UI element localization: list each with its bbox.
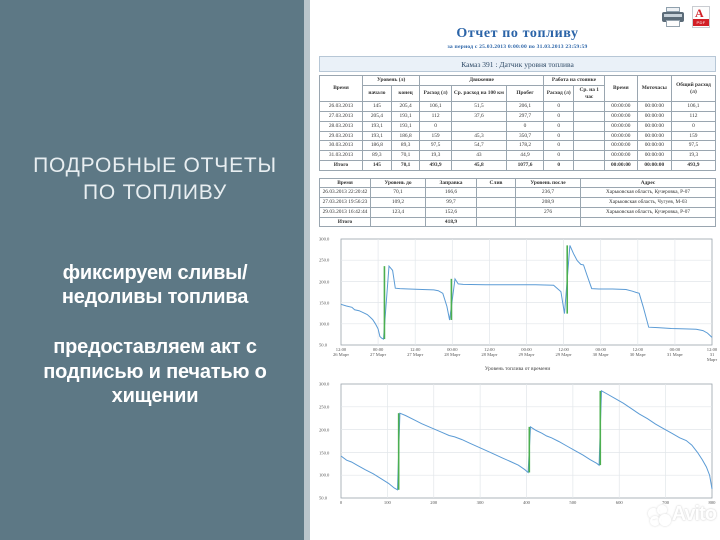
main-summary-table: Время Уровень (л) Движение Работа на сто… bbox=[319, 75, 716, 171]
table-row: 27.03.2013205,4193,111237,6297,7000:00:0… bbox=[320, 112, 716, 122]
table-cell bbox=[581, 217, 716, 227]
table-cell: 00:00:00 bbox=[637, 141, 671, 151]
y-axis-tick-label: 100.0 bbox=[319, 322, 329, 327]
table-total-row: Итого14570,1493,945,81077,6000:00:0000:0… bbox=[320, 160, 716, 170]
table-cell bbox=[574, 102, 605, 112]
table-cell: 0 bbox=[543, 151, 574, 161]
chart-1-caption: Уровень топлива от времени bbox=[319, 366, 716, 372]
table-cell: 54,7 bbox=[451, 141, 506, 151]
col-total-consumption: Общий расход (л) bbox=[671, 76, 715, 102]
table-cell: 193,1 bbox=[362, 131, 391, 141]
table-cell: 193,1 bbox=[391, 121, 420, 131]
fuel-events-table: Время Уровень до Заправка Слив Уровень п… bbox=[319, 178, 716, 228]
table-cell: 159 bbox=[671, 131, 715, 141]
table-cell: Харьковская область, Чугуев, М-03 bbox=[581, 198, 716, 208]
table-cell: 29.03.2013 bbox=[320, 131, 363, 141]
report-title: Отчет по топливу bbox=[315, 26, 720, 42]
table-cell bbox=[574, 160, 605, 170]
table-cell: 00:00:00 bbox=[604, 160, 637, 170]
y-axis-tick-label: 200.0 bbox=[319, 279, 329, 284]
group-level: Уровень (л) bbox=[362, 76, 419, 86]
table-cell: 0 bbox=[543, 131, 574, 141]
table-cell: 159 bbox=[420, 131, 451, 141]
table-cell: Итого bbox=[320, 217, 371, 227]
x-axis-tick-label: 00:0029 Март bbox=[518, 347, 534, 357]
left-marketing-panel: ПОДРОБНЫЕ ОТЧЕТЫ ПО ТОПЛИВУ фиксируем сл… bbox=[0, 0, 310, 540]
x-axis-tick-label: 400 bbox=[523, 500, 530, 505]
table-row: 26.03.2013145205,4106,151,5206,1000:00:0… bbox=[320, 102, 716, 112]
y-axis-tick-label: 150.0 bbox=[319, 300, 329, 305]
table-cell: 350,7 bbox=[507, 131, 544, 141]
col-ev-level-before: Уровень до bbox=[371, 178, 426, 188]
table-cell: 0 bbox=[543, 141, 574, 151]
x-axis-tick-label: 12:0029 Март bbox=[556, 347, 572, 357]
x-axis-tick-label: 12:0030 Март bbox=[630, 347, 646, 357]
table-cell: 89,3 bbox=[391, 141, 420, 151]
col-mileage: Пробег bbox=[507, 85, 544, 102]
table-cell: 31.03.2013 bbox=[320, 151, 363, 161]
table-cell bbox=[516, 217, 581, 227]
table-cell: 0 bbox=[507, 121, 544, 131]
subtext-2-line-2: подписью и печатью о bbox=[43, 360, 266, 384]
table-cell: 70,1 bbox=[371, 188, 426, 198]
pdf-label: PDF bbox=[693, 19, 709, 26]
table-cell: 00:00:00 bbox=[637, 131, 671, 141]
table-cell: 0 bbox=[543, 121, 574, 131]
chart-1-wrapper: 300.0250.0200.0150.0100.050.012:0026 Мар… bbox=[319, 235, 716, 372]
col-motohours: Моточасы bbox=[637, 76, 671, 102]
col-ev-time: Время bbox=[320, 178, 371, 188]
table-cell: 70,1 bbox=[391, 160, 420, 170]
table-cell: 51,5 bbox=[451, 102, 506, 112]
table-cell bbox=[574, 151, 605, 161]
col-avg-per-hour: Ср. на 1 час bbox=[574, 85, 605, 102]
x-axis-tick-label: 12:0028 Март bbox=[481, 347, 497, 357]
col-avg-per-100km: Ср. расход на 100 км bbox=[451, 85, 506, 102]
x-axis-tick-label: 500 bbox=[569, 500, 576, 505]
col-ev-address: Адрес bbox=[581, 178, 716, 188]
table-cell: 152,6 bbox=[426, 207, 477, 217]
subtext-1-line-1: фиксируем сливы/ bbox=[43, 261, 266, 285]
table-row: 28.03.2013193,1193,100000:00:0000:00:000 bbox=[320, 121, 716, 131]
col-ev-level-after: Уровень после bbox=[516, 178, 581, 188]
table-row: 29.03.2013 16:42:44123,4152,6276Харьковс… bbox=[320, 207, 716, 217]
table-cell: 70,1 bbox=[391, 151, 420, 161]
x-axis-tick-label: 12:0031 Март bbox=[707, 347, 717, 362]
table-cell: Харьковская область, Кучеровка, Р-07 bbox=[581, 207, 716, 217]
group-movement: Движение bbox=[420, 76, 544, 86]
table-cell: 97,5 bbox=[671, 141, 715, 151]
table-cell: 00:00:00 bbox=[604, 151, 637, 161]
subtext-block: фиксируем сливы/ недоливы топлива предос… bbox=[43, 261, 266, 409]
main-table-head: Время Уровень (л) Движение Работа на сто… bbox=[320, 76, 716, 102]
table-cell: 97,5 bbox=[420, 141, 451, 151]
table-cell: 123,4 bbox=[371, 207, 426, 217]
table-cell: 106,1 bbox=[671, 102, 715, 112]
pdf-export-icon[interactable]: A PDF bbox=[690, 6, 712, 28]
table-cell: 00:00:00 bbox=[637, 151, 671, 161]
table-cell: 166,6 bbox=[426, 188, 477, 198]
table-cell: 0 bbox=[671, 121, 715, 131]
x-axis-tick-label: 300 bbox=[477, 500, 484, 505]
table-cell bbox=[371, 217, 426, 227]
table-cell bbox=[574, 141, 605, 151]
table-row: 31.03.201389,370,119,34344,9000:00:0000:… bbox=[320, 151, 716, 161]
headline: ПОДРОБНЫЕ ОТЧЕТЫ ПО ТОПЛИВУ bbox=[33, 152, 277, 207]
x-axis-tick-label: 12:0027 Март bbox=[407, 347, 423, 357]
table-cell: 00:00:00 bbox=[637, 102, 671, 112]
table-cell: 0 bbox=[420, 121, 451, 131]
x-axis-tick-label: 100 bbox=[384, 500, 391, 505]
subtext-2-line-3: хищении bbox=[43, 384, 266, 408]
y-axis-tick-label: 300.0 bbox=[319, 237, 329, 242]
x-axis-tick-label: 00:0031 Март bbox=[667, 347, 683, 357]
table-cell: 205,4 bbox=[391, 102, 420, 112]
table-cell: 145 bbox=[362, 160, 391, 170]
chart-svg bbox=[319, 380, 716, 510]
table-cell bbox=[574, 131, 605, 141]
table-cell: 44,9 bbox=[507, 151, 544, 161]
events-table-body: 26.03.2013 22:20:4270,1166,6236,7Харьков… bbox=[320, 188, 716, 227]
events-header-row: Время Уровень до Заправка Слив Уровень п… bbox=[320, 178, 716, 188]
table-cell bbox=[477, 198, 516, 208]
x-axis-tick-label: 600 bbox=[616, 500, 623, 505]
table-cell: 193,1 bbox=[391, 112, 420, 122]
table-cell: 27.03.2013 19:56:23 bbox=[320, 198, 371, 208]
table-cell bbox=[477, 188, 516, 198]
table-cell: 493,9 bbox=[420, 160, 451, 170]
table-cell: 109,2 bbox=[371, 198, 426, 208]
table-cell: 45,3 bbox=[451, 131, 506, 141]
subtext-2-line-1: предоставляем акт с bbox=[43, 335, 266, 359]
object-name-bar: Камаз 391 : Датчик уровня топлива bbox=[319, 56, 716, 72]
table-cell: 206,1 bbox=[507, 102, 544, 112]
table-row: 26.03.2013 22:20:4270,1166,6236,7Харьков… bbox=[320, 188, 716, 198]
table-cell: 19,3 bbox=[671, 151, 715, 161]
main-table-body: 26.03.2013145205,4106,151,5206,1000:00:0… bbox=[320, 102, 716, 170]
table-total-row: Итого418,9 bbox=[320, 217, 716, 227]
table-cell: 45,8 bbox=[451, 160, 506, 170]
col-level-end: конец bbox=[391, 85, 420, 102]
table-cell bbox=[477, 217, 516, 227]
x-axis-tick-label: 00:0028 Март bbox=[444, 347, 460, 357]
table-cell bbox=[477, 207, 516, 217]
table-cell: 00:00:00 bbox=[637, 121, 671, 131]
headline-line-1: ПОДРОБНЫЕ ОТЧЕТЫ bbox=[33, 152, 277, 179]
col-move-consumption: Расход (л) bbox=[420, 85, 451, 102]
y-axis-tick-label: 100.0 bbox=[319, 473, 329, 478]
table-cell: 00:00:00 bbox=[604, 102, 637, 112]
fuel-report-screenshot: A PDF Отчет по топливу за период с 25.03… bbox=[310, 0, 720, 540]
table-row: 27.03.2013 19:56:23109,299,7208,9Харьков… bbox=[320, 198, 716, 208]
x-axis-tick-label: 700 bbox=[662, 500, 669, 505]
x-axis-tick-label: 00:0030 Март bbox=[593, 347, 609, 357]
table-cell: 43 bbox=[451, 151, 506, 161]
y-axis-tick-label: 300.0 bbox=[319, 382, 329, 387]
x-axis-tick-label: 12:0026 Март bbox=[333, 347, 349, 357]
table-row: 29.03.2013193,1186,815945,3350,7000:00:0… bbox=[320, 131, 716, 141]
events-table-head: Время Уровень до Заправка Слив Уровень п… bbox=[320, 178, 716, 188]
table-cell: 418,9 bbox=[426, 217, 477, 227]
y-axis-tick-label: 50.0 bbox=[319, 343, 327, 348]
fuel-level-time-chart: 300.0250.0200.0150.0100.050.012:0026 Мар… bbox=[319, 235, 716, 365]
table-cell: 00:00:00 bbox=[604, 141, 637, 151]
table-cell: 00:00:00 bbox=[604, 121, 637, 131]
table-row: 30.03.2013186,889,397,554,7178,2000:00:0… bbox=[320, 141, 716, 151]
table-cell: 276 bbox=[516, 207, 581, 217]
x-axis-tick-label: 800 bbox=[709, 500, 716, 505]
table-cell: 145 bbox=[362, 102, 391, 112]
col-level-start: начало bbox=[362, 85, 391, 102]
table-cell: 106,1 bbox=[420, 102, 451, 112]
table-cell: 178,2 bbox=[507, 141, 544, 151]
report-period: за период с 25.03.2013 0:00:00 по 31.03.… bbox=[315, 44, 720, 50]
table-cell: 297,7 bbox=[507, 112, 544, 122]
table-cell: 37,6 bbox=[451, 112, 506, 122]
table-cell: Харьковская область, Кучеровка, Р-07 bbox=[581, 188, 716, 198]
chart-2-wrapper: 300.0250.0200.0150.0100.050.001002003004… bbox=[319, 380, 716, 510]
table-cell bbox=[574, 112, 605, 122]
x-axis-tick-label: 200 bbox=[430, 500, 437, 505]
table-cell: 99,7 bbox=[426, 198, 477, 208]
table-cell: 28.03.2013 bbox=[320, 121, 363, 131]
table-cell: 193,1 bbox=[362, 121, 391, 131]
table-cell: 0 bbox=[543, 102, 574, 112]
slide-root: ПОДРОБНЫЕ ОТЧЕТЫ ПО ТОПЛИВУ фиксируем сл… bbox=[0, 0, 720, 540]
y-axis-tick-label: 50.0 bbox=[319, 496, 327, 501]
table-cell: 00:00:00 bbox=[637, 112, 671, 122]
table-cell: 112 bbox=[420, 112, 451, 122]
table-cell: 0 bbox=[543, 112, 574, 122]
col-ev-refuel: Заправка bbox=[426, 178, 477, 188]
table-cell: 493,9 bbox=[671, 160, 715, 170]
table-cell: 186,8 bbox=[391, 131, 420, 141]
table-cell: 89,3 bbox=[362, 151, 391, 161]
y-axis-tick-label: 200.0 bbox=[319, 427, 329, 432]
x-axis-tick-label: 0 bbox=[340, 500, 342, 505]
table-cell bbox=[451, 121, 506, 131]
table-cell: 205,4 bbox=[362, 112, 391, 122]
col-ev-drain: Слив bbox=[477, 178, 516, 188]
table-cell: 1077,6 bbox=[507, 160, 544, 170]
headline-line-2: ПО ТОПЛИВУ bbox=[33, 179, 277, 206]
table-cell: 112 bbox=[671, 112, 715, 122]
table-cell: 00:00:00 bbox=[604, 112, 637, 122]
y-axis-tick-label: 250.0 bbox=[319, 258, 329, 263]
table-cell: 19,3 bbox=[420, 151, 451, 161]
main-table-group-header-row: Время Уровень (л) Движение Работа на сто… bbox=[320, 76, 716, 86]
table-cell: 26.03.2013 22:20:42 bbox=[320, 188, 371, 198]
table-cell: 29.03.2013 16:42:44 bbox=[320, 207, 371, 217]
y-axis-tick-label: 250.0 bbox=[319, 405, 329, 410]
subtext-1-line-2: недоливы топлива bbox=[43, 285, 266, 309]
fuel-level-distance-chart: 300.0250.0200.0150.0100.050.001002003004… bbox=[319, 380, 716, 510]
table-cell: 0 bbox=[543, 160, 574, 170]
table-cell: 236,7 bbox=[516, 188, 581, 198]
table-cell: 26.03.2013 bbox=[320, 102, 363, 112]
col-time2: Время bbox=[604, 76, 637, 102]
chart-svg bbox=[319, 235, 716, 365]
printer-icon[interactable] bbox=[662, 6, 684, 28]
table-cell bbox=[574, 121, 605, 131]
report-toolbar: A PDF bbox=[662, 6, 712, 28]
col-park-consumption: Расход (л) bbox=[543, 85, 574, 102]
x-axis-tick-label: 00:0027 Март bbox=[370, 347, 386, 357]
group-parking: Работа на стоянке bbox=[543, 76, 604, 86]
table-cell: 00:00:00 bbox=[637, 160, 671, 170]
pdf-letter: A bbox=[695, 8, 704, 19]
table-cell: 208,9 bbox=[516, 198, 581, 208]
col-time: Время bbox=[320, 76, 363, 102]
table-cell: 30.03.2013 bbox=[320, 141, 363, 151]
subtext-gap bbox=[43, 309, 266, 335]
y-axis-tick-label: 150.0 bbox=[319, 450, 329, 455]
table-cell: 27.03.2013 bbox=[320, 112, 363, 122]
table-cell: 186,8 bbox=[362, 141, 391, 151]
table-cell: Итого bbox=[320, 160, 363, 170]
table-cell: 00:00:00 bbox=[604, 131, 637, 141]
